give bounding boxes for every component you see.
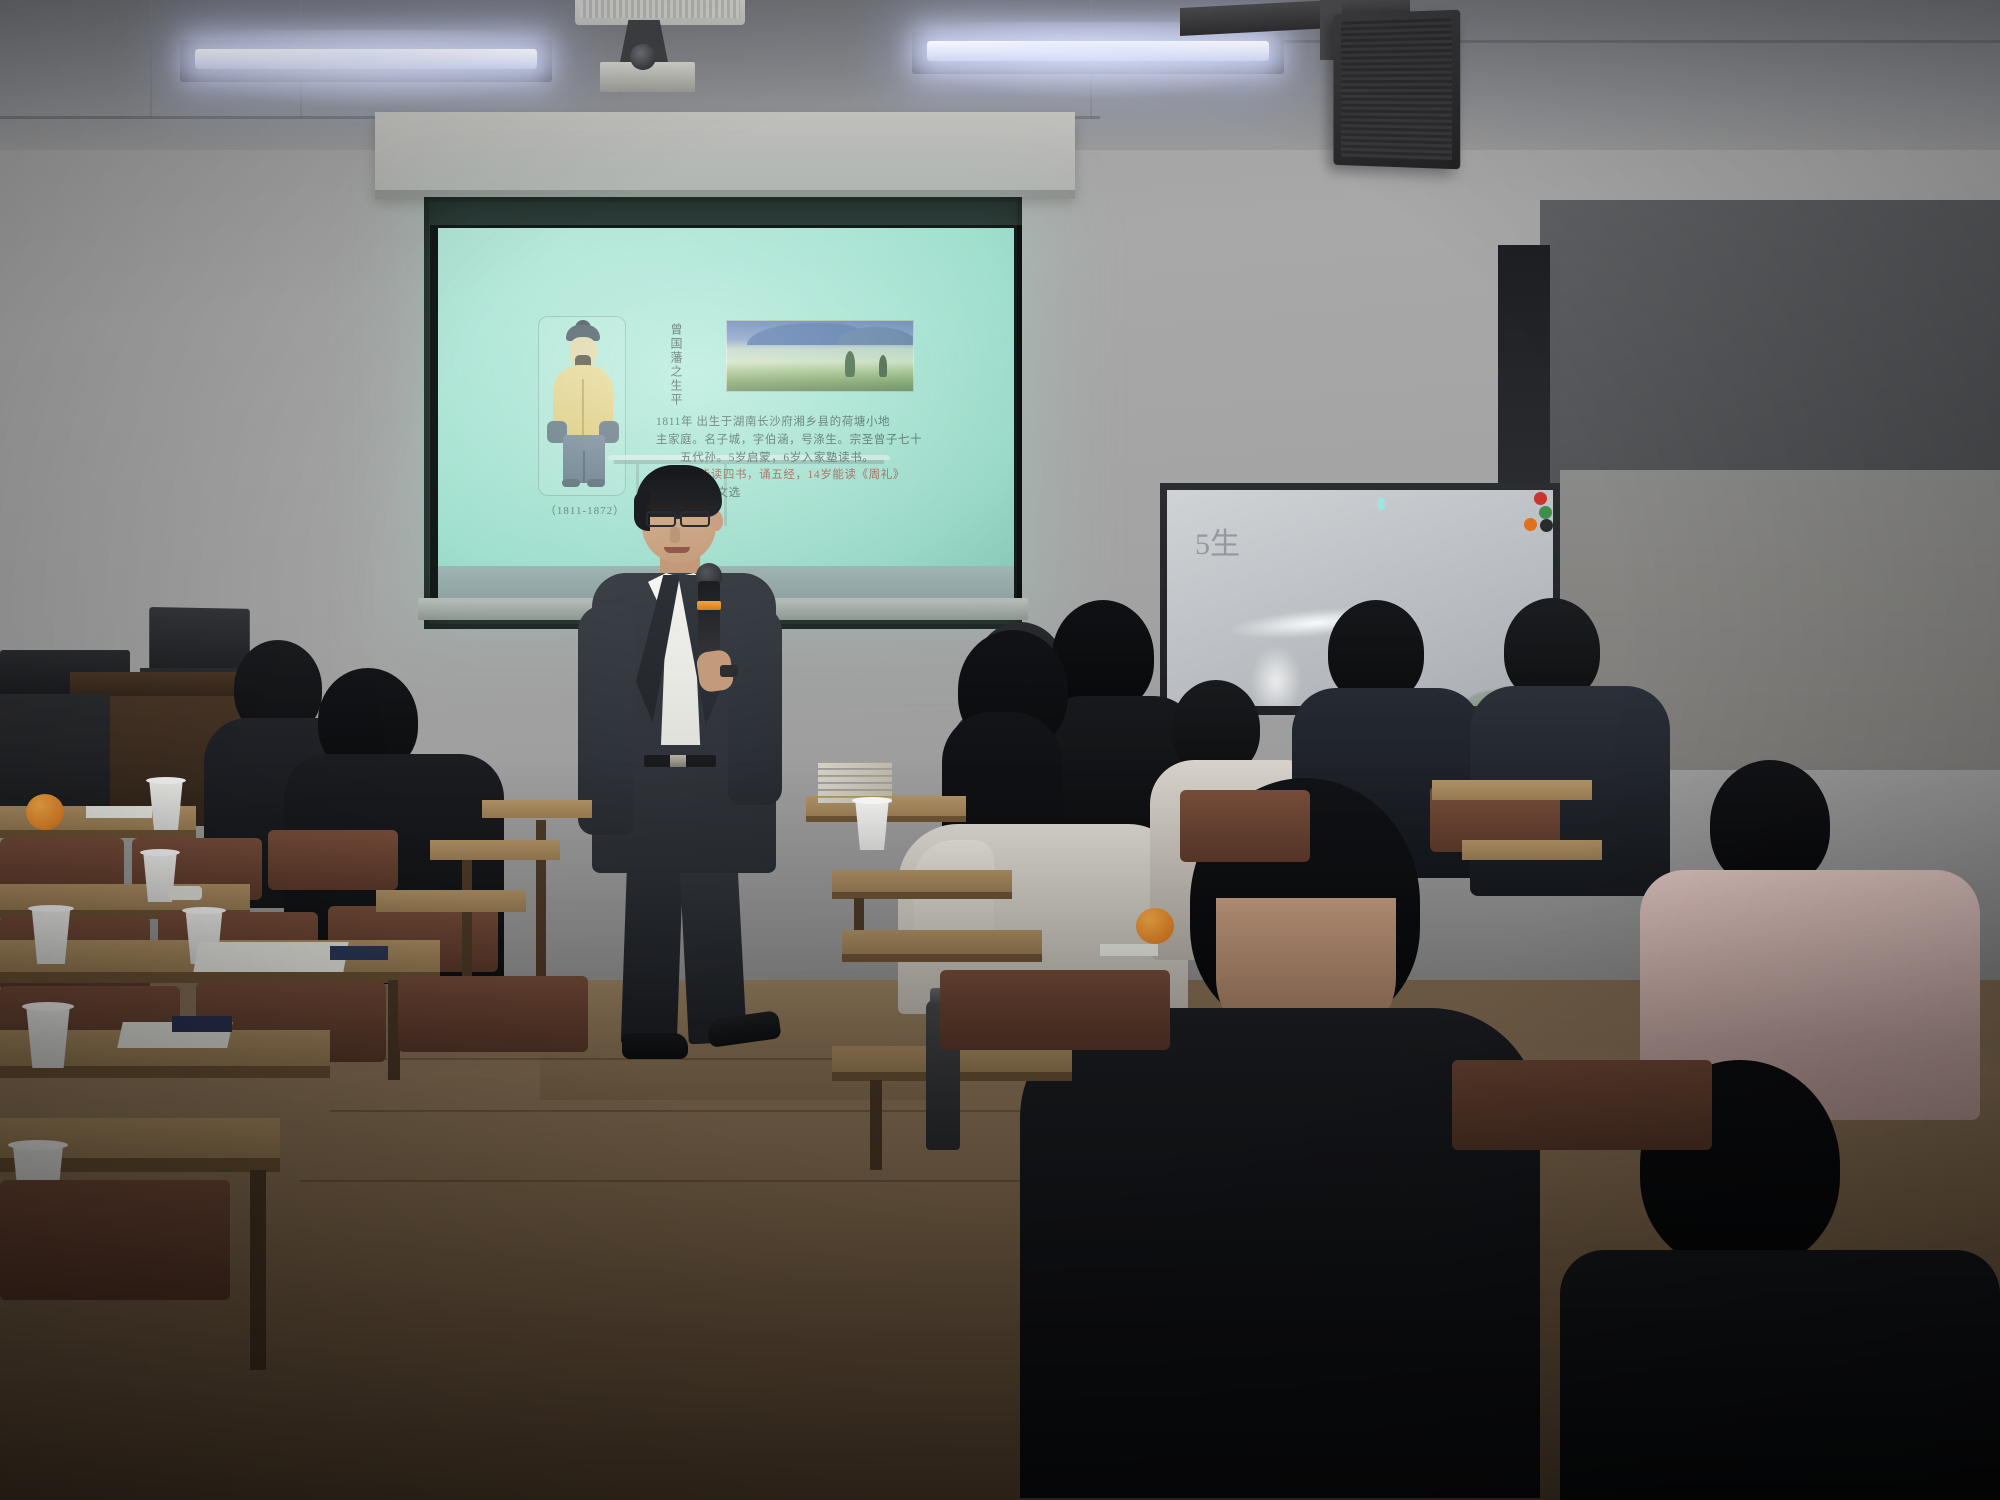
eyeglasses-icon [680,511,710,527]
desk-leg [870,1080,882,1170]
floor-seam [330,1110,1090,1112]
projector-lens-icon [630,44,656,70]
pa-speaker [1333,10,1460,170]
desk-edge [842,954,1042,962]
screen-bulkhead [375,112,1075,197]
presenter-shoe-left [622,1033,688,1059]
floor-seam [300,1180,1140,1182]
magnet-red[interactable] [1534,492,1547,505]
paper-cup-rim [146,777,186,784]
chair-back [268,830,398,890]
classroom-scene: 曾国藩之生平 1811年 出生于湖南长沙府湘乡县的荷塘小地 主家庭。名子城，字伯… [0,0,2000,1500]
presenter [570,455,800,1075]
chair-back [0,1180,230,1300]
fluorescent-light-left [180,40,552,82]
chair-back [398,976,588,1052]
whiteboard-reflection-spot [1378,498,1385,510]
orange-fruit[interactable] [26,794,64,830]
orange-fruit[interactable] [1136,908,1174,944]
chair-back [940,970,1170,1050]
paper-cup-rim [140,849,180,856]
desk-right-mid [832,870,1012,894]
presenter-arm-right [728,605,782,805]
chair-back [1180,790,1310,862]
magnet-orange[interactable] [1524,518,1537,531]
desk-right-front [842,930,1042,956]
food-scrap [168,886,202,900]
paper-cup-rim [8,1140,68,1150]
desk-left-aisle-3 [376,890,526,912]
fluorescent-light-right [912,32,1284,74]
paper-cup-rim [852,797,892,804]
presenter-mouth [664,547,690,553]
paper-cup-rim [28,905,74,912]
presenter-eyebrow-left [646,505,672,508]
right-wall-upper [1540,200,2000,490]
desk-leg [250,1170,266,1370]
handout-paper[interactable] [193,942,348,972]
ceiling-seam [150,0,152,118]
presenter-wristwatch [720,665,738,677]
handout-paper[interactable] [1100,944,1158,956]
microphone-band [697,601,721,610]
paper-cup-rim [22,1002,74,1011]
magnet-black[interactable] [1540,519,1553,532]
presenter-nose [670,527,680,543]
whiteboard-handwriting: 5生 [1195,530,1255,600]
desk-left-aisle-2 [430,840,560,860]
paper-cup-rim [182,907,226,914]
eyeglasses-icon [646,511,676,527]
doorway [1498,245,1550,500]
desk-far-right-2 [1462,840,1602,860]
chair-back [1452,1060,1712,1150]
projector-vent [580,0,740,18]
eyeglasses-bridge [674,517,682,519]
desk-left-aisle [482,800,592,818]
presenter-eyebrow-right [682,505,708,508]
handout-paper-blue[interactable] [330,946,388,960]
desk-edge [0,830,196,838]
presenter-belt-buckle [670,755,686,767]
handout-paper[interactable] [86,806,152,818]
magnet-green[interactable] [1539,506,1552,519]
handout-paper-blue[interactable] [172,1016,232,1032]
desk-far-right [1432,780,1592,800]
